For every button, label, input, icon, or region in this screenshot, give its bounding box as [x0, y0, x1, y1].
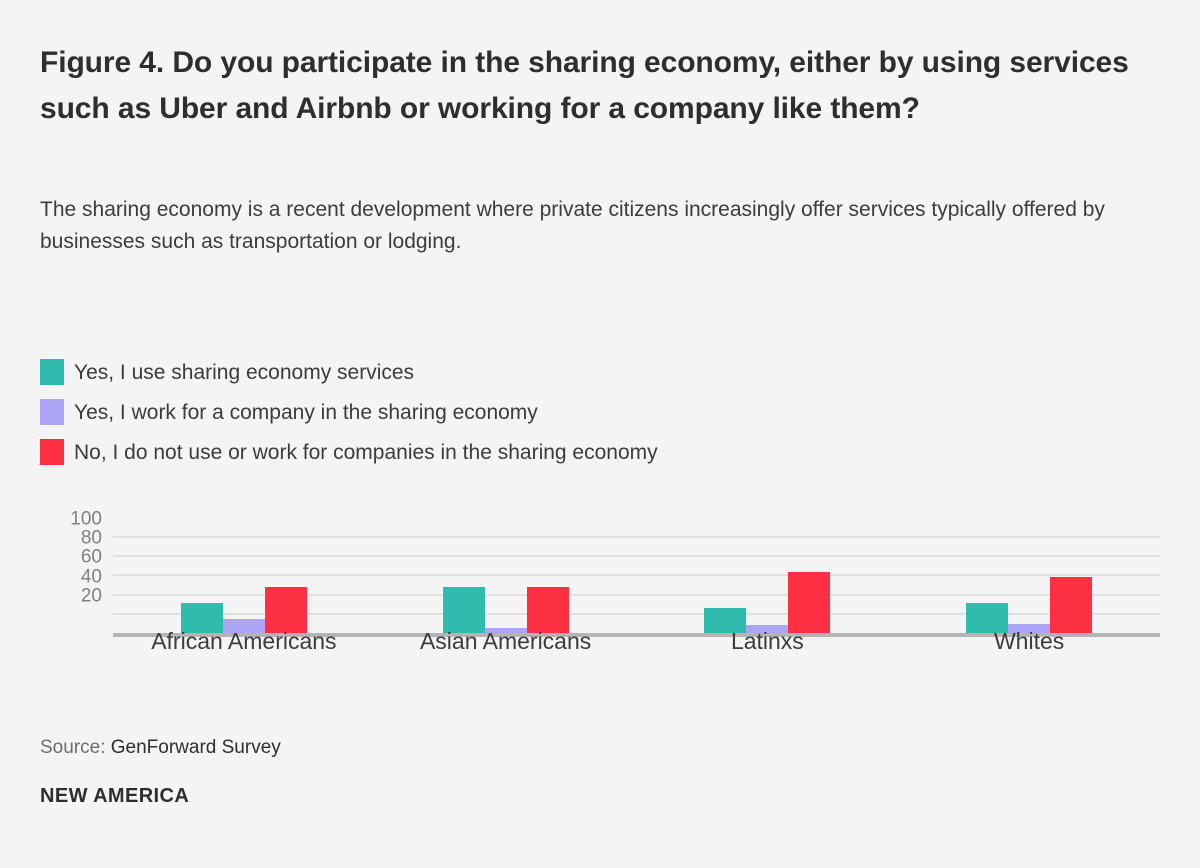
- legend-swatch-icon: [40, 359, 64, 385]
- source-label: Source:: [40, 737, 105, 758]
- x-axis-label: Asian Americans: [420, 628, 591, 655]
- legend-item-work-for-company[interactable]: Yes, I work for a company in the sharing…: [40, 392, 1040, 432]
- bar[interactable]: [443, 587, 485, 634]
- source-note: Source: GenForward Survey: [40, 738, 281, 757]
- figure-container: Figure 4. Do you participate in the shar…: [0, 0, 1200, 868]
- y-axis-tick-label: 80: [42, 529, 102, 548]
- legend-swatch-icon: [40, 439, 64, 465]
- bar-group: [704, 538, 830, 634]
- bar-chart: 10080604020 African AmericansAsian Ameri…: [40, 520, 1165, 680]
- y-axis-tick-label: 40: [42, 567, 102, 586]
- source-value: GenForward Survey: [111, 737, 281, 758]
- brand-logo: NEW AMERICA: [40, 786, 189, 806]
- bar-group: [966, 538, 1092, 634]
- bar-group: [181, 538, 307, 634]
- y-axis-tick-label: 60: [42, 548, 102, 567]
- legend-item-label: Yes, I work for a company in the sharing…: [74, 402, 538, 423]
- bar[interactable]: [788, 572, 830, 634]
- bar[interactable]: [1050, 577, 1092, 634]
- x-axis-label: Latinxs: [731, 628, 804, 655]
- figure-subtitle: The sharing economy is a recent developm…: [40, 194, 1165, 259]
- y-axis-tick-label: 20: [42, 586, 102, 605]
- y-axis-tick-label: 100: [42, 510, 102, 529]
- bar[interactable]: [265, 587, 307, 634]
- chart-legend: Yes, I use sharing economy services Yes,…: [40, 352, 1040, 472]
- bar[interactable]: [527, 587, 569, 634]
- bar-group: [443, 538, 569, 634]
- x-axis-label: African Americans: [151, 628, 336, 655]
- figure-title: Figure 4. Do you participate in the shar…: [40, 40, 1130, 131]
- x-axis-labels: African AmericansAsian AmericansLatinxsW…: [113, 628, 1160, 668]
- bars-layer: [113, 538, 1160, 634]
- legend-item-use-services[interactable]: Yes, I use sharing economy services: [40, 352, 1040, 392]
- legend-item-label: No, I do not use or work for companies i…: [74, 442, 658, 463]
- plot-area: 10080604020: [113, 538, 1160, 634]
- x-axis-label: Whites: [994, 628, 1064, 655]
- legend-item-label: Yes, I use sharing economy services: [74, 362, 414, 383]
- legend-item-no-participation[interactable]: No, I do not use or work for companies i…: [40, 432, 1040, 472]
- legend-swatch-icon: [40, 399, 64, 425]
